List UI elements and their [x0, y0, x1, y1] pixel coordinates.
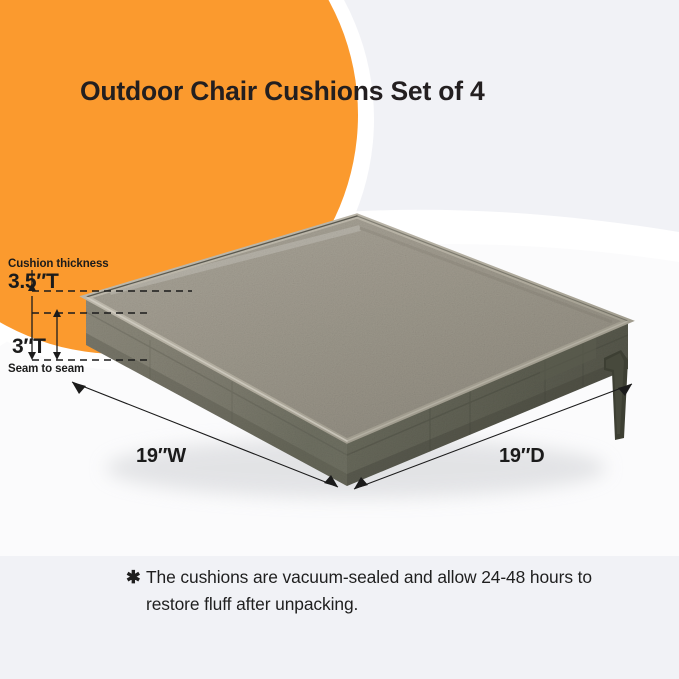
- thickness-caption: Cushion thickness: [8, 258, 109, 270]
- asterisk-icon: ✱: [126, 564, 140, 591]
- infographic-canvas: Outdoor Chair Cushions Set of 4: [0, 0, 679, 679]
- seam-value: 3″T: [12, 335, 46, 359]
- seam-caption: Seam to seam: [8, 363, 84, 375]
- footnote: ✱ The cushions are vacuum-sealed and all…: [126, 564, 596, 618]
- cushion-top-face: [86, 216, 628, 441]
- footnote-text: The cushions are vacuum-sealed and allow…: [126, 564, 596, 618]
- depth-value: 19″D: [499, 445, 544, 468]
- thickness-value: 3.5″T: [8, 270, 59, 294]
- width-value: 19″W: [136, 445, 186, 468]
